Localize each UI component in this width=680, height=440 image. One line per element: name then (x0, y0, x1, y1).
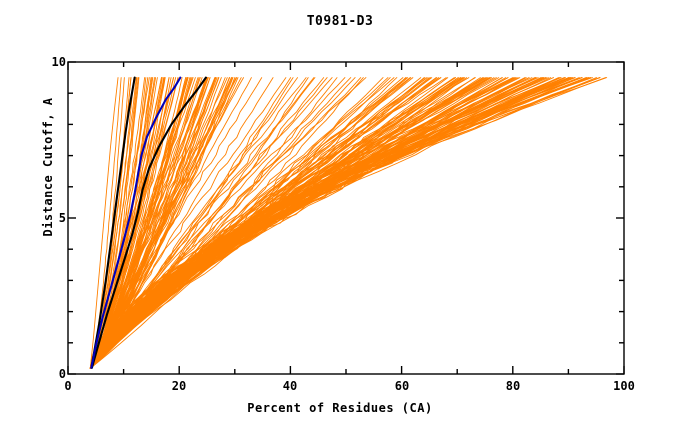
plot-root: T0981-D3 Distance Cutoff, A Percent of R… (0, 0, 680, 440)
prediction-curve (90, 78, 548, 369)
chart-canvas (0, 0, 680, 440)
prediction-curves (90, 78, 606, 369)
